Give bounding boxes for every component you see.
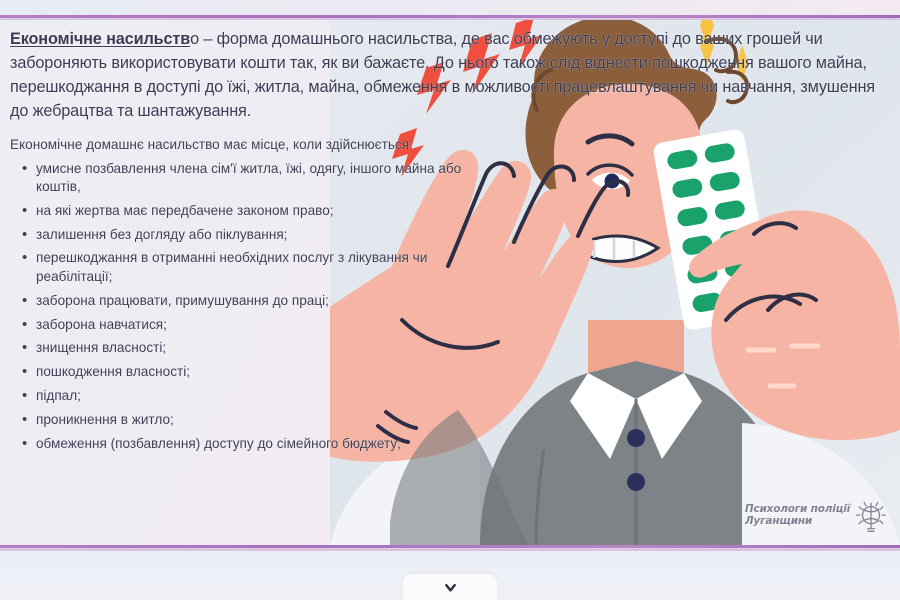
list-item: проникнення в житло; <box>10 411 470 429</box>
lightbulb-icon <box>854 499 888 533</box>
list-item: пошкодження власності; <box>10 363 470 381</box>
jacket-button <box>627 429 645 447</box>
list-item: залишення без догляду або піклування; <box>10 226 470 244</box>
text-column: Економічне насильство – форма домашнього… <box>10 28 480 453</box>
jacket-button <box>627 473 645 491</box>
list-item: перешкоджання в отриманні необхідних пос… <box>10 249 470 286</box>
lead-term: Економічне насильств <box>10 30 190 48</box>
slide-page: Економічне насильство – форма домашнього… <box>0 0 900 600</box>
watermark: Психологи поліції Луганщини <box>745 499 888 533</box>
list-item: заборона навчатися; <box>10 316 470 334</box>
list-item: умисне позбавлення члена сім'ї житла, їж… <box>10 160 470 197</box>
top-divider-rule <box>0 15 900 18</box>
list-item: обмеження (позбавлення) доступу до сімей… <box>10 435 470 453</box>
bullet-list: умисне позбавлення члена сім'ї житла, їж… <box>10 160 470 453</box>
watermark-text: Психологи поліції Луганщини <box>745 504 850 528</box>
list-item: на які жертва має передбачене законом пр… <box>10 202 470 220</box>
list-item: знищення власності; <box>10 339 470 357</box>
chevron-down-icon[interactable] <box>443 580 458 595</box>
list-item: заборона працювати, примушування до прац… <box>10 292 470 310</box>
lead-paragraph: Економічне насильство – форма домашнього… <box>10 28 895 124</box>
scroll-down-tab[interactable] <box>403 574 497 600</box>
slide-content: Економічне насильство – форма домашнього… <box>0 20 900 545</box>
list-item: підпал; <box>10 387 470 405</box>
bottom-divider-rule <box>0 545 900 548</box>
subheading: Економічне домашнє насильство має місце,… <box>10 135 465 154</box>
